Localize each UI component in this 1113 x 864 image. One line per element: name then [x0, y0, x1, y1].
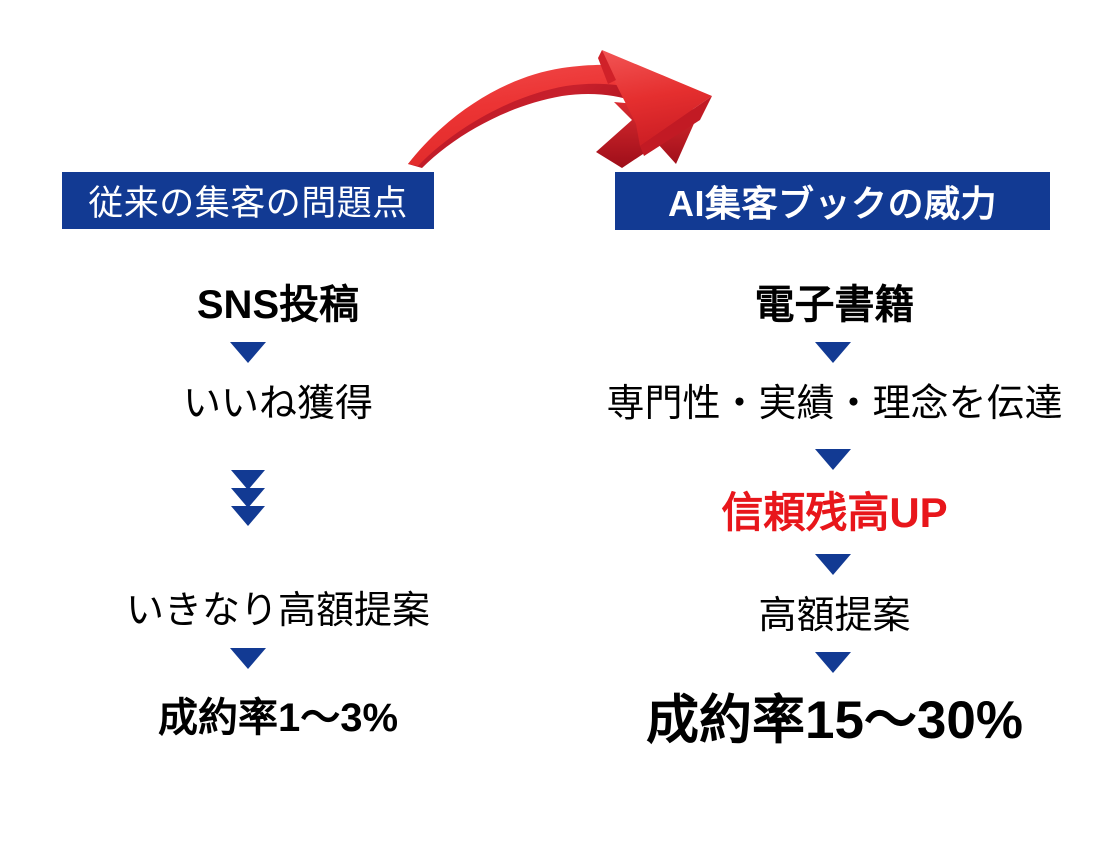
right-column-header: AI集客ブックの威力: [615, 172, 1050, 230]
left-step-2: いいね獲得: [0, 385, 556, 423]
left-step-1: SNS投稿: [0, 285, 556, 325]
right-step-4: 高額提案: [556, 597, 1113, 635]
right-step-1-label: 電子書籍: [755, 285, 915, 325]
down-arrow-icon: [231, 488, 265, 508]
left-column: 従来の集客の問題点 SNS投稿 いいね獲得 いきなり高額提案 成約率1〜3%: [0, 0, 556, 864]
left-step-2-label: いいね獲得: [183, 385, 373, 423]
right-column: AI集客ブックの威力 電子書籍 専門性・実績・理念を伝達 信頼残高UP 高額提案…: [556, 0, 1113, 864]
left-step-1-label: SNS投稿: [197, 285, 359, 325]
down-arrow-icon: [815, 652, 851, 673]
left-step-4-label: 成約率1〜3%: [158, 698, 398, 738]
right-step-5: 成約率15〜30%: [556, 694, 1113, 747]
down-arrow-icon: [815, 342, 851, 363]
right-step-1: 電子書籍: [556, 285, 1113, 325]
right-step-3-label: 信頼残高UP: [721, 492, 947, 534]
down-arrow-icon: [230, 648, 266, 669]
down-arrow-icon: [815, 449, 851, 470]
right-step-2-label: 専門性・実績・理念を伝達: [606, 385, 1062, 423]
left-column-header: 従来の集客の問題点: [62, 172, 434, 229]
down-arrow-icon: [231, 470, 265, 490]
down-arrow-icon: [815, 554, 851, 575]
right-step-5-label: 成約率15〜30%: [646, 694, 1023, 747]
right-step-2: 専門性・実績・理念を伝達: [556, 385, 1113, 423]
left-step-3-label: いきなり高額提案: [126, 592, 430, 630]
right-step-4-label: 高額提案: [758, 597, 910, 635]
comparison-columns: 従来の集客の問題点 SNS投稿 いいね獲得 いきなり高額提案 成約率1〜3% A…: [0, 0, 1113, 864]
left-step-4: 成約率1〜3%: [0, 698, 556, 738]
left-step-3: いきなり高額提案: [0, 592, 556, 630]
down-arrow-icon: [231, 506, 265, 526]
down-arrow-icon: [230, 342, 266, 363]
right-step-3: 信頼残高UP: [556, 492, 1113, 534]
